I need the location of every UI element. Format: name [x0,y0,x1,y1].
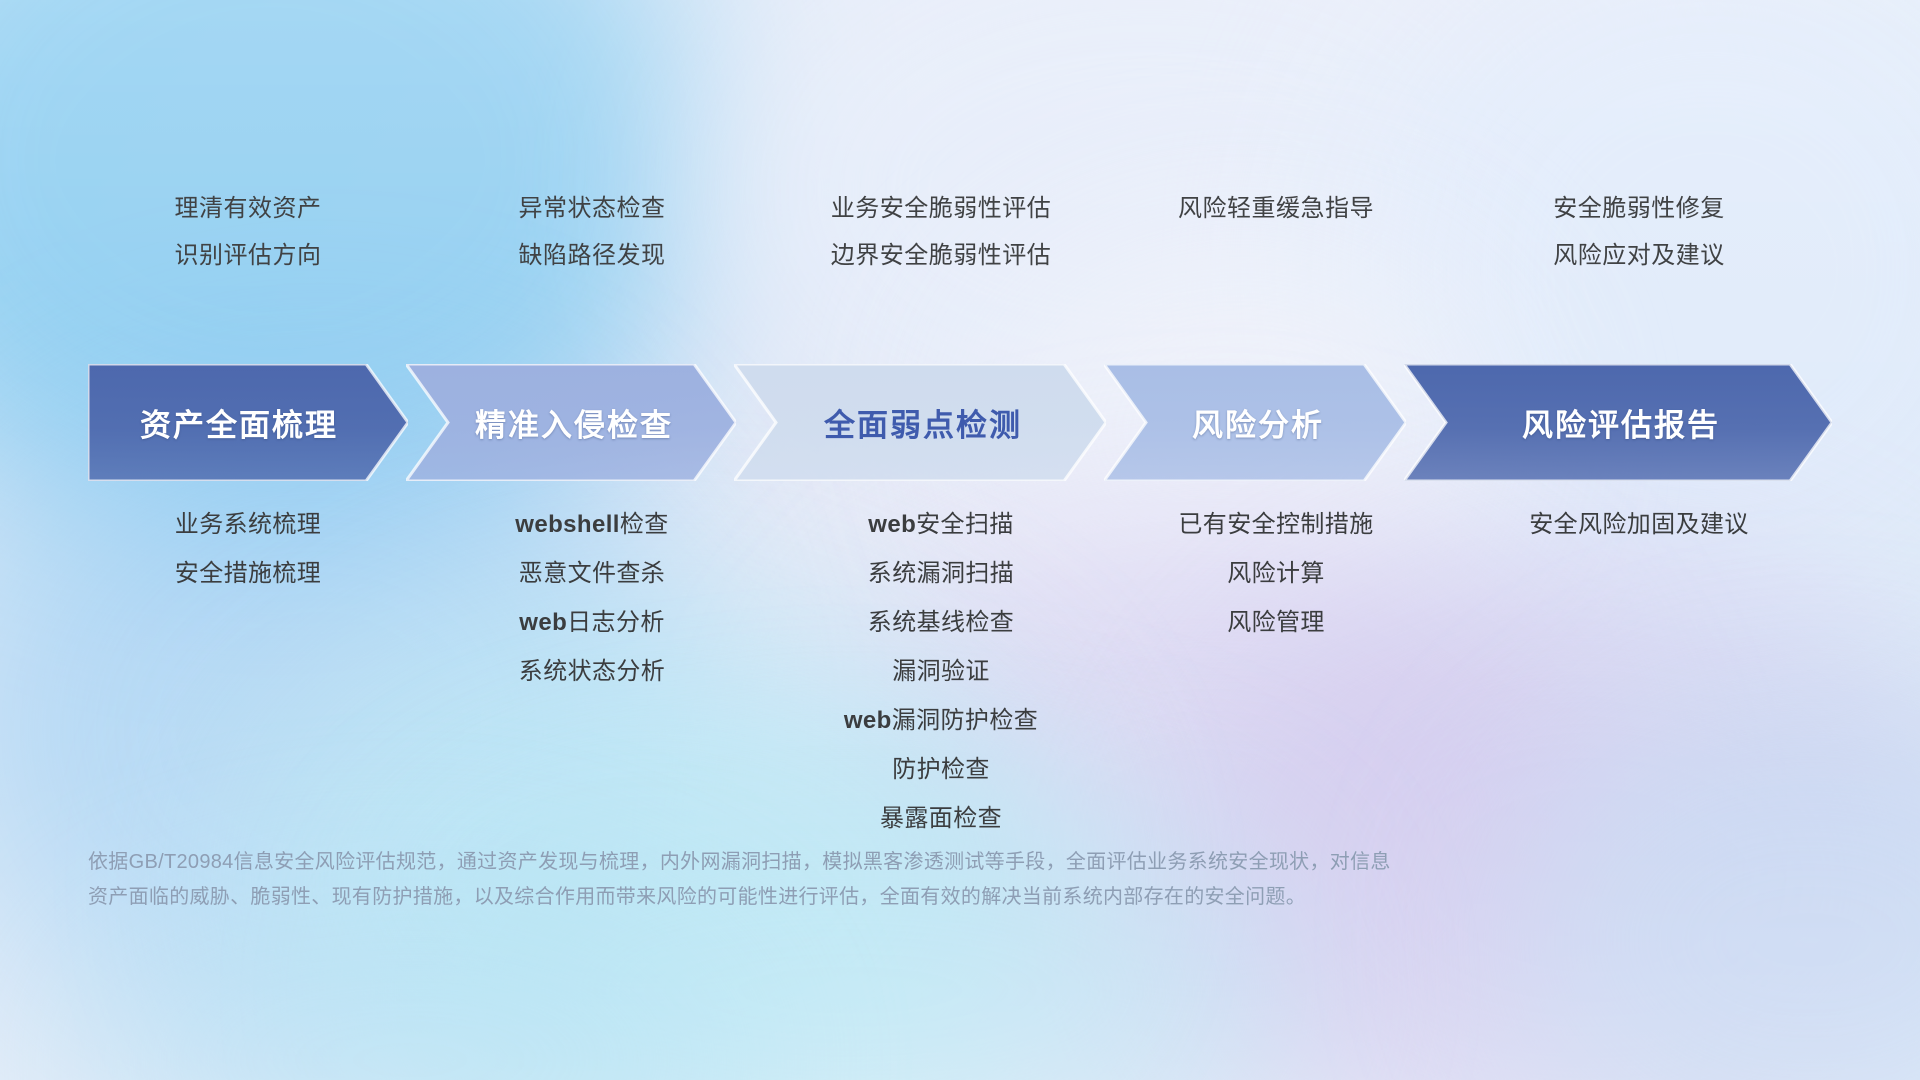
process-chevron-band: 资产全面梳理精准入侵检查全面弱点检测风险分析风险评估报告 [88,364,1832,481]
stage-activities-risk-analysis: 已有安全控制措施风险计算风险管理 [1146,500,1406,647]
chevron-label-intrusion-check: 精准入侵检查 [475,400,673,445]
activity-item: 安全风险加固及建议 [1446,500,1832,549]
activity-item: 漏洞验证 [776,647,1106,696]
activity-item: 防护检查 [776,745,1106,794]
stage-outcomes-weakness-detection: 业务安全脆弱性评估边界安全脆弱性评估 [776,185,1106,279]
activity-item: 风险管理 [1146,598,1406,647]
outcome-item: 识别评估方向 [88,232,408,279]
outcome-item: 边界安全脆弱性评估 [776,232,1106,279]
stage-activities-intrusion-check: webshell检查恶意文件查杀web日志分析系统状态分析 [448,500,736,696]
chevron-label-asset-inventory: 资产全面梳理 [140,400,338,445]
activity-item: 恶意文件查杀 [448,549,736,598]
stage-outcomes-risk-report: 安全脆弱性修复风险应对及建议 [1446,185,1832,279]
activity-item: web安全扫描 [776,500,1106,549]
outcome-item: 风险轻重缓急指导 [1146,185,1406,232]
footer-line-2: 资产面临的威胁、脆弱性、现有防护措施，以及综合作用而带来风险的可能性进行评估，全… [88,880,1648,915]
chevron-label-weakness-detection: 全面弱点检测 [824,400,1022,445]
outcome-item: 缺陷路径发现 [448,232,736,279]
outcome-item: 异常状态检查 [448,185,736,232]
activity-item: 风险计算 [1146,549,1406,598]
stage-outcomes-intrusion-check: 异常状态检查缺陷路径发现 [448,185,736,279]
activity-item: 系统基线检查 [776,598,1106,647]
chevron-label-risk-analysis: 风险分析 [1192,400,1324,445]
activity-item: web漏洞防护检查 [776,696,1106,745]
infographic-canvas: 理清有效资产识别评估方向异常状态检查缺陷路径发现业务安全脆弱性评估边界安全脆弱性… [0,0,1920,1080]
activity-item: webshell检查 [448,500,736,549]
chevron-stage-risk-report[interactable]: 风险评估报告 [1404,364,1832,481]
chevron-stage-risk-analysis[interactable]: 风险分析 [1104,364,1406,481]
outcome-item: 风险应对及建议 [1446,232,1832,279]
stage-activities-asset-inventory: 业务系统梳理安全措施梳理 [88,500,408,598]
activity-item: 已有安全控制措施 [1146,500,1406,549]
outcome-item: 安全脆弱性修复 [1446,185,1832,232]
stage-outcomes-asset-inventory: 理清有效资产识别评估方向 [88,185,408,279]
outcome-item: 业务安全脆弱性评估 [776,185,1106,232]
activity-item: 系统状态分析 [448,647,736,696]
chevron-stage-asset-inventory[interactable]: 资产全面梳理 [88,364,408,481]
footer-description: 依据GB/T20984信息安全风险评估规范，通过资产发现与梳理，内外网漏洞扫描，… [88,845,1648,915]
stage-activities-risk-report: 安全风险加固及建议 [1446,500,1832,549]
activity-item: 暴露面检查 [776,794,1106,843]
stage-activities-weakness-detection: web安全扫描系统漏洞扫描系统基线检查漏洞验证web漏洞防护检查防护检查暴露面检… [776,500,1106,843]
activity-item: 系统漏洞扫描 [776,549,1106,598]
activity-item: 安全措施梳理 [88,549,408,598]
content-layer: 理清有效资产识别评估方向异常状态检查缺陷路径发现业务安全脆弱性评估边界安全脆弱性… [0,0,1920,1080]
chevron-stage-intrusion-check[interactable]: 精准入侵检查 [406,364,736,481]
chevron-label-risk-report: 风险评估报告 [1522,400,1720,445]
activity-item: web日志分析 [448,598,736,647]
chevron-stage-weakness-detection[interactable]: 全面弱点检测 [734,364,1106,481]
outcome-item: 理清有效资产 [88,185,408,232]
activity-item: 业务系统梳理 [88,500,408,549]
footer-line-1: 依据GB/T20984信息安全风险评估规范，通过资产发现与梳理，内外网漏洞扫描，… [88,845,1648,880]
stage-outcomes-risk-analysis: 风险轻重缓急指导 [1146,185,1406,232]
